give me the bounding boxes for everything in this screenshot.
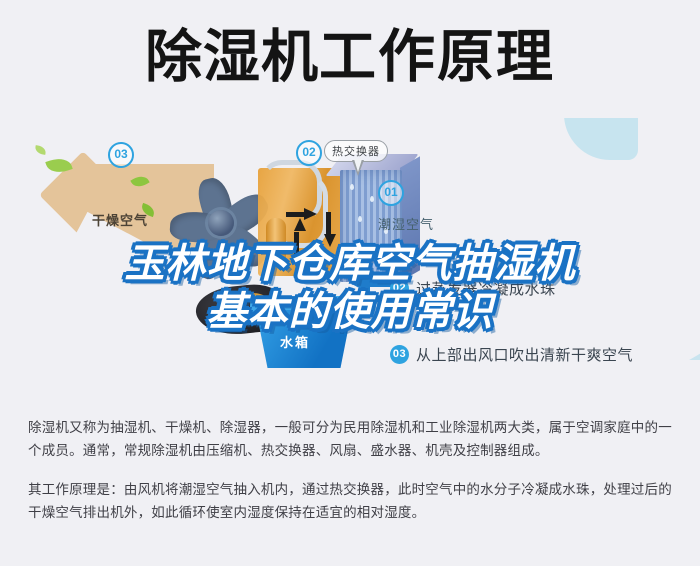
- paragraph-2: 其工作原理是：由风机将潮湿空气抽入机内，通过热交换器，此时空气中的水分子冷凝成水…: [28, 478, 676, 524]
- dehumidifier-diagram: 干燥空气 03: [0, 118, 700, 398]
- step-item-03: 03 从上部出风口吹出清新干爽空气: [390, 344, 633, 365]
- water-tank-illustration: 水箱: [250, 296, 360, 374]
- humid-air-label: 潮湿空气: [378, 214, 434, 233]
- step-item-02: 02 过蒸发器冷凝成水珠: [390, 278, 556, 299]
- callout-pointer-icon: [352, 160, 364, 176]
- air-intake-arrow: [350, 272, 370, 294]
- badge-03-dry-air: 03: [108, 142, 134, 168]
- leaf-icon: [34, 145, 46, 155]
- step-text: 从上部出风口吹出清新干爽空气: [416, 344, 633, 365]
- page-title-part2: 工作原理: [319, 25, 555, 89]
- page-title: 除湿机工作原理: [0, 26, 700, 88]
- fan-hub: [208, 210, 234, 236]
- infographic-page: 除湿机工作原理 干燥空气 03: [0, 0, 700, 566]
- page-title-part1: 除湿机: [145, 25, 319, 89]
- humid-air-flow-arrow: [410, 118, 700, 360]
- title-band: 除湿机工作原理: [0, 0, 700, 118]
- badge-01-humid-air: 01: [378, 180, 404, 206]
- step-number: 03: [390, 345, 409, 364]
- step-text: 过蒸发器冷凝成水珠: [416, 278, 556, 299]
- body-copy: 除湿机又称为抽湿机、干燥机、除湿器，一般可分为民用除湿机和工业除湿机两大类，属于…: [28, 416, 676, 540]
- badge-02-heat-exchanger: 02: [296, 140, 322, 166]
- step-number: 02: [390, 279, 409, 298]
- dry-air-label: 干燥空气: [92, 210, 148, 229]
- paragraph-1: 除湿机又称为抽湿机、干燥机、除湿器，一般可分为民用除湿机和工业除湿机两大类，属于…: [28, 416, 676, 462]
- water-tank-label: 水箱: [280, 332, 310, 351]
